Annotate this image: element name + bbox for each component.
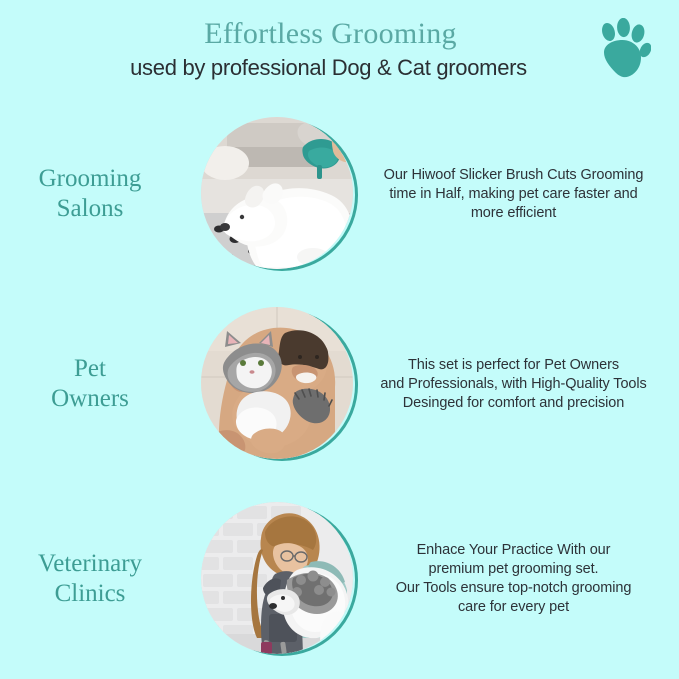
row-text-line: Desinged for comfort and precision (370, 394, 657, 413)
row-label-veterinary-clinics: Veterinary Clinics (0, 549, 186, 609)
row-text-line: This set is perfect for Pet Owners (370, 356, 657, 375)
row-label-line2: Owners (0, 384, 180, 414)
row-media-grooming-salons (186, 109, 356, 279)
paw-print-icon (595, 18, 651, 80)
photo-dog-being-brushed (201, 117, 353, 269)
photo-groomer-with-dog (201, 502, 353, 654)
row-label-line1: Veterinary (0, 549, 180, 579)
page-subtitle: used by professional Dog & Cat groomers (0, 54, 679, 82)
row-media-pet-owners (186, 299, 356, 469)
row-text-line: more efficient (370, 204, 657, 223)
row-label-grooming-salons: Grooming Salons (0, 164, 186, 224)
feature-row-pet-owners: Pet Owners (0, 289, 679, 479)
row-text-veterinary-clinics: Enhace Your Practice With our premium pe… (356, 541, 679, 617)
page-title: Effortless Grooming (0, 17, 679, 51)
row-text-line: premium pet grooming set. (370, 560, 657, 579)
row-label-line1: Pet (0, 354, 180, 384)
row-label-pet-owners: Pet Owners (0, 354, 186, 414)
row-label-line1: Grooming (0, 164, 180, 194)
photo-person-holding-cat (201, 307, 353, 459)
row-media-veterinary-clinics (186, 494, 356, 664)
feature-row-grooming-salons: Grooming Salons (0, 99, 679, 289)
row-text-grooming-salons: Our Hiwoof Slicker Brush Cuts Grooming t… (356, 166, 679, 223)
row-text-line: Our Tools ensure top-notch grooming (370, 579, 657, 598)
feature-row-veterinary-clinics: Veterinary Clinics (0, 484, 679, 674)
row-label-line2: Salons (0, 194, 180, 224)
page-header: Effortless Grooming used by professional… (0, 0, 679, 96)
row-text-line: Enhace Your Practice With our (370, 541, 657, 560)
row-text-line: and Professionals, with High-Quality Too… (370, 375, 657, 394)
row-text-line: time in Half, making pet care faster and (370, 185, 657, 204)
row-label-line2: Clinics (0, 579, 180, 609)
row-text-pet-owners: This set is perfect for Pet Owners and P… (356, 356, 679, 413)
row-text-line: care for every pet (370, 598, 657, 617)
row-text-line: Our Hiwoof Slicker Brush Cuts Grooming (370, 166, 657, 185)
